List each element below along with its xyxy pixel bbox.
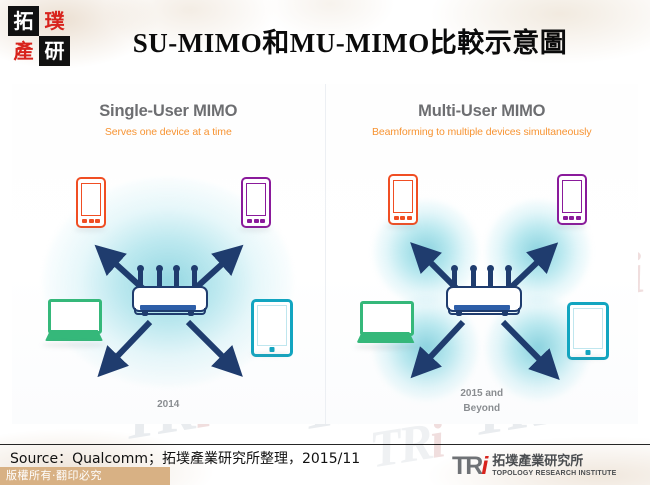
tri-brand-logo: 拓 璞 產 研 [8,6,70,66]
panel-year-line1: 2015 and [460,388,503,399]
router-led-strip [454,305,510,310]
smartphone-orange [388,174,418,225]
logo-char-2: 璞 [39,6,70,36]
tri-name-cn: 拓墣產業研究所 [492,455,616,469]
tablet-teal [251,299,293,357]
footer-rule [0,444,650,445]
logo-char-1: 拓 [8,6,39,36]
smartphone-purple [241,177,271,228]
tablet-teal [567,302,609,360]
laptop-green [45,299,103,343]
smartphone-purple [557,174,587,225]
panel-year-multi-user: 2015 and Beyond [326,386,639,416]
wifi-router [442,266,522,322]
copyright-bar: 版權所有‧翻印必究 [0,467,170,485]
panel-multi-user-mimo: Multi-User MIMO Beamforming to multiple … [325,84,639,424]
logo-char-3: 產 [8,36,39,66]
panel-year-line2: Beyond [463,403,500,414]
tri-wordmark: TRi [452,454,486,479]
connection-links [12,84,325,424]
panel-year-single-user: 2014 [12,397,325,412]
logo-char-4: 研 [39,36,70,66]
slide-canvas: TRi TRi TRi TRi TRi 拓 璞 產 研 SU-MIMO和MU-M… [0,0,650,485]
wifi-router [128,266,208,322]
smartphone-orange [76,177,106,228]
panel-single-user-mimo: Single-User MIMO Serves one device at a … [12,84,325,424]
connection-links [326,84,639,424]
comparison-figure: Single-User MIMO Serves one device at a … [12,84,638,424]
tri-name-en: TOPOLOGY RESEARCH INSTITUTE [492,469,616,478]
router-led-strip [140,305,196,310]
source-note: Source：Qualcomm；拓墣產業研究所整理，2015/11 [10,448,360,468]
tri-footer-logo: TRi 拓墣產業研究所 TOPOLOGY RESEARCH INSTITUTE [452,452,642,480]
tri-watermark: TRi [366,415,445,478]
laptop-green [357,301,415,345]
page-title: SU-MIMO和MU-MIMO比較示意圖 [80,22,620,64]
